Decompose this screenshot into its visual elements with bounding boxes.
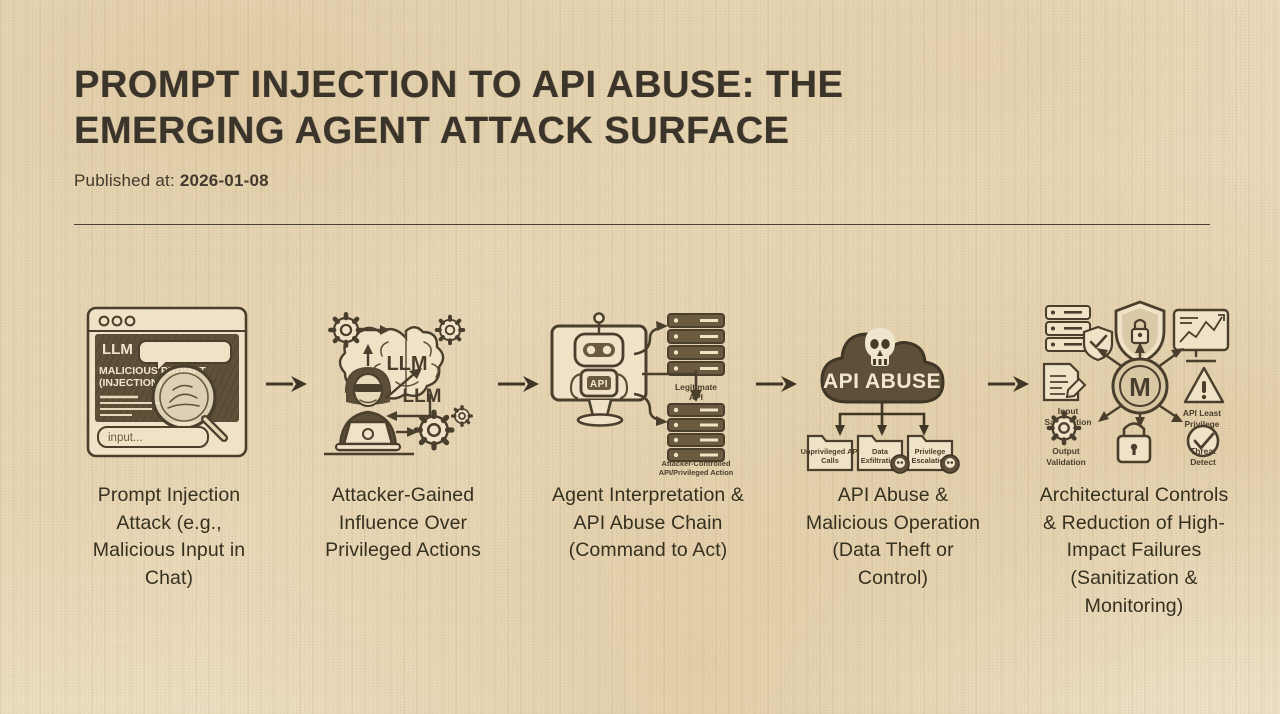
flow-stage-architectural-controls: Input Sanitization API Least Privilege — [1032, 296, 1236, 620]
control-label: Threat — [1190, 446, 1216, 456]
attacker-controlled-label-line2: API/Privileged Action — [659, 468, 734, 477]
brain-llm-label: LLM — [386, 353, 427, 375]
flow-stage-agent-interpretation: API — [542, 296, 754, 565]
folder-label: Privilege — [915, 447, 946, 456]
published-line: Published at: 2026-01-08 — [74, 171, 1214, 191]
window-llm-label: LLM — [102, 341, 133, 358]
folder-label: Data — [872, 447, 889, 456]
agent-api-branching-illustration: API — [542, 296, 754, 472]
control-label: Input — [1058, 406, 1079, 416]
warning-triangle-icon — [1185, 368, 1223, 402]
document-edit-icon — [1044, 364, 1085, 400]
flow-stage-caption: API Abuse & Malicious Operation (Data Th… — [800, 482, 986, 593]
skull-badge-icon — [891, 455, 909, 473]
gear-icon — [416, 412, 452, 448]
flow-arrow-3 — [754, 296, 800, 472]
skull-badge-icon — [941, 455, 959, 473]
process-flow: LLM MALICIOUS PROMPT (INJECTION) — [74, 296, 1214, 620]
malicious-prompt-line2: (INJECTION) — [99, 377, 162, 389]
control-label: Output — [1052, 446, 1080, 456]
api-abuse-label: API ABUSE — [823, 370, 941, 393]
hub-icon: M — [1113, 359, 1167, 413]
robot-api-label: API — [590, 379, 608, 390]
llm-side-label: LLM — [402, 386, 441, 407]
slide-page: PROMPT INJECTION TO API ABUSE: THE EMERG… — [0, 0, 1280, 714]
monitor-chart-icon — [1174, 310, 1228, 361]
arrow-right-icon — [497, 372, 541, 396]
flow-stage-caption: Architectural Controls & Reduction of Hi… — [1032, 482, 1236, 620]
flow-stage-caption: Agent Interpretation & API Abuse Chain (… — [542, 482, 754, 565]
skull-cloud-api-abuse-illustration: API ABUSE Unprivileged API — [800, 296, 986, 472]
gear-icon — [1049, 413, 1079, 443]
controls-hub-illustration: Input Sanitization API Least Privilege — [1032, 296, 1236, 472]
chat-window-malicious-prompt-illustration: LLM MALICIOUS PROMPT (INJECTION) — [74, 296, 264, 472]
server-icon — [668, 404, 724, 461]
control-label: Detect — [1190, 457, 1216, 467]
folder-icon: Unprivileged API Calls — [801, 436, 860, 470]
cloud-icon: API ABUSE — [822, 328, 943, 402]
flow-arrow-2 — [496, 296, 542, 472]
arrow-right-icon — [755, 372, 799, 396]
flow-arrow-1 — [264, 296, 310, 472]
hub-label: M — [1129, 372, 1151, 402]
flow-stage-caption: Prompt Injection Attack (e.g., Malicious… — [74, 482, 264, 593]
flow-stage-attacker-influence: LLM — [310, 296, 496, 565]
gear-icon — [453, 407, 472, 426]
flow-stage-api-abuse: API ABUSE Unprivileged API — [800, 296, 986, 593]
arrow-right-icon — [265, 372, 309, 396]
header-divider — [74, 224, 1210, 225]
input-placeholder-text: input... — [108, 432, 143, 444]
attacker-controlled-label-line1: Attacker-Controlled — [662, 459, 731, 468]
control-label: API Least — [1183, 408, 1221, 418]
published-label: Published at: — [74, 171, 175, 190]
server-icon — [668, 314, 724, 375]
folder-label: Calls — [821, 456, 839, 465]
hacker-brain-gears-illustration: LLM — [310, 296, 496, 472]
header: PROMPT INJECTION TO API ABUSE: THE EMERG… — [74, 62, 1214, 191]
page-title: PROMPT INJECTION TO API ABUSE: THE EMERG… — [74, 62, 1034, 155]
flow-arrow-4 — [986, 296, 1032, 472]
gear-icon — [330, 314, 361, 345]
published-date: 2026-01-08 — [180, 171, 269, 190]
flow-stage-prompt-injection: LLM MALICIOUS PROMPT (INJECTION) — [74, 296, 264, 593]
gear-icon — [437, 317, 464, 344]
arrow-right-icon — [987, 372, 1031, 396]
folder-label: Unprivileged API — [801, 447, 860, 456]
padlock-icon — [1118, 424, 1150, 463]
control-label: Validation — [1046, 457, 1086, 467]
flow-stage-caption: Attacker-Gained Influence Over Privilege… — [310, 482, 496, 565]
